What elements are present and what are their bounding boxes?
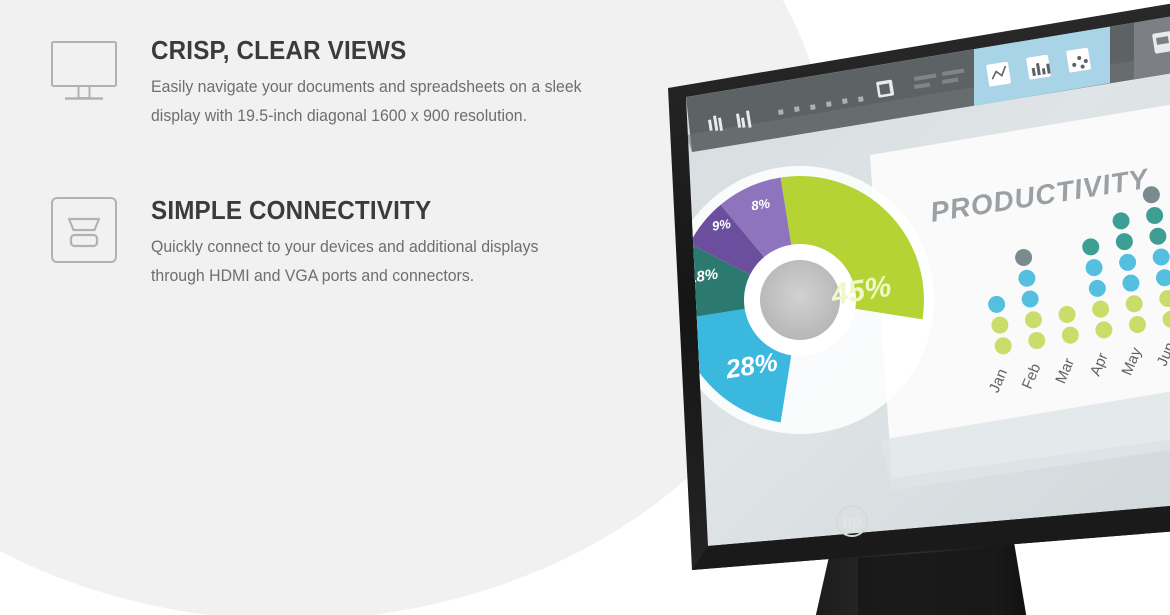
toolbar-icon-line-chart bbox=[986, 62, 1011, 87]
product-monitor: 45% 28% 18% 9% 8% PRODUCTIVITY bbox=[540, 0, 1170, 615]
page-root: CRISP, CLEAR VIEWS Easily navigate your … bbox=[0, 0, 1170, 615]
donut-label-9: 9% bbox=[711, 216, 732, 234]
feature-text: CRISP, CLEAR VIEWS Easily navigate your … bbox=[151, 33, 601, 131]
ports-icon bbox=[47, 193, 121, 267]
feature-item-crisp-clear-views: CRISP, CLEAR VIEWS Easily navigate your … bbox=[47, 33, 601, 131]
toolbar-icon-image bbox=[876, 79, 894, 97]
feature-body: Quickly connect to your devices and addi… bbox=[151, 233, 583, 291]
feature-body: Easily navigate your documents and sprea… bbox=[151, 73, 583, 131]
feature-text: SIMPLE CONNECTIVITY Quickly connect to y… bbox=[151, 193, 601, 291]
monitor-icon bbox=[47, 33, 121, 107]
toolbar-icon-save bbox=[1152, 31, 1170, 54]
svg-text:hp: hp bbox=[842, 513, 863, 532]
feature-heading: SIMPLE CONNECTIVITY bbox=[151, 195, 570, 225]
feature-heading: CRISP, CLEAR VIEWS bbox=[151, 35, 570, 65]
feature-item-simple-connectivity: SIMPLE CONNECTIVITY Quickly connect to y… bbox=[47, 193, 601, 291]
toolbar-icon-histogram bbox=[1026, 55, 1051, 80]
toolbar-icon-scatter-chart bbox=[1066, 48, 1091, 73]
donut-label-8: 8% bbox=[750, 196, 771, 214]
feature-list: CRISP, CLEAR VIEWS Easily navigate your … bbox=[0, 0, 620, 615]
